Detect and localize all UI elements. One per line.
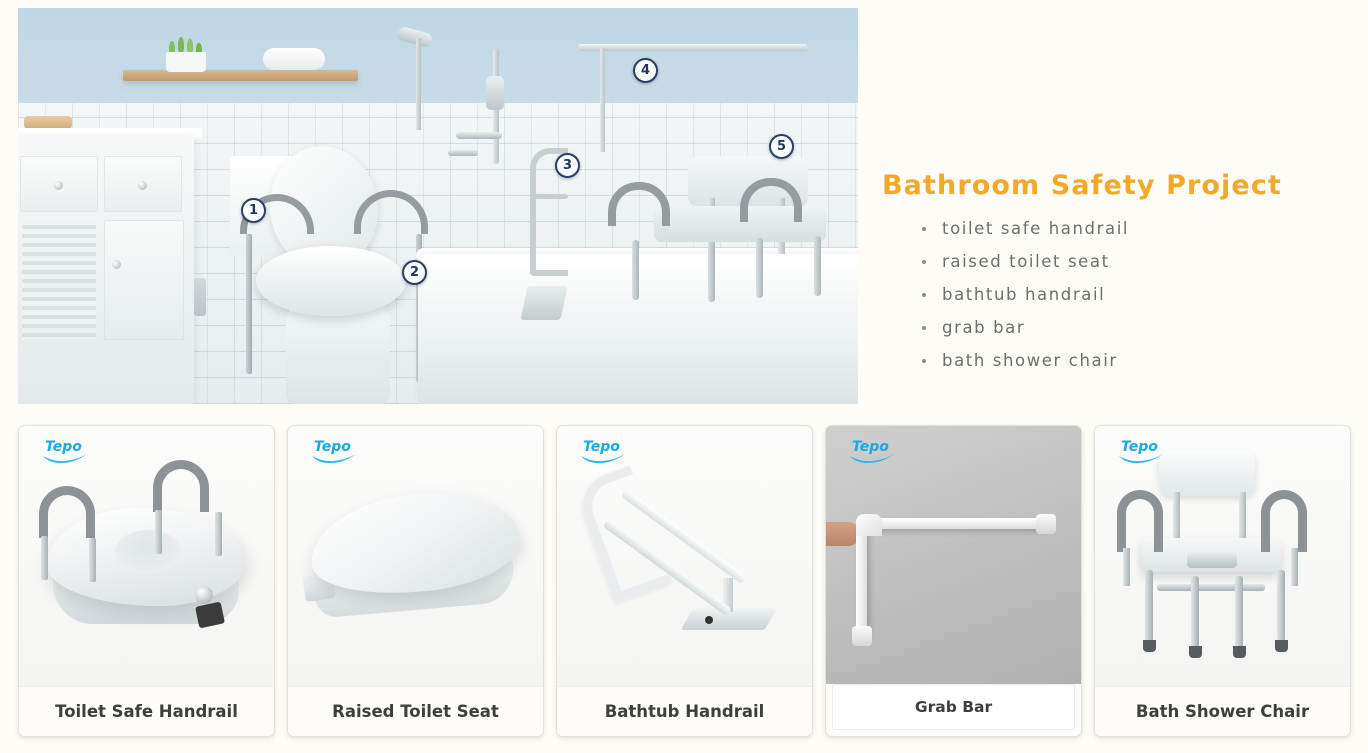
chair-leg-3 <box>1235 576 1243 648</box>
seat-clamp <box>195 602 225 629</box>
bullet-dot-icon <box>922 227 926 231</box>
armrest-leg-left <box>246 234 252 374</box>
product-card-bath-shower-chair[interactable]: Tepo Bath Shower Chair <box>1094 425 1351 737</box>
bullet-dot-icon <box>922 293 926 297</box>
chair-foot-1 <box>1143 640 1156 652</box>
plate-bolt <box>705 616 713 624</box>
toilet-base <box>286 304 390 404</box>
handrail-right <box>153 460 209 512</box>
shower-pipe <box>416 38 421 130</box>
grab-bar-flange-bottom <box>852 626 872 646</box>
callout-badge-2[interactable]: 2 <box>402 260 427 285</box>
feature-item-grab-bar: grab bar <box>882 318 1352 337</box>
svg-text:Tepo: Tepo <box>852 439 889 455</box>
hand-holding-bar <box>826 522 860 546</box>
raised-toilet-seat-in-scene <box>256 246 406 316</box>
product-label: Grab Bar <box>832 684 1075 730</box>
wooden-shelf <box>123 70 358 81</box>
product-card-raised-toilet-seat[interactable]: Tepo Raised Toilet Seat <box>287 425 544 737</box>
swivel-mechanism <box>1187 552 1237 568</box>
bullet-dot-icon <box>922 260 926 264</box>
feature-label: bathtub handrail <box>942 285 1105 304</box>
shower-chair-leg-2 <box>708 242 715 302</box>
bathtub-handrail-step <box>534 194 568 199</box>
shower-mixer <box>456 132 502 139</box>
scene-artwork <box>18 8 858 404</box>
handrail-loop <box>574 465 673 602</box>
feature-label: grab bar <box>942 318 1025 337</box>
grab-bar-horizontal <box>868 518 1048 529</box>
plant-pot <box>166 52 206 72</box>
grab-bar-elbow <box>856 514 882 536</box>
product-card-toilet-safe-handrail[interactable]: Tepo Toilet Safe Handrail <box>18 425 275 737</box>
callout-badge-5[interactable]: 5 <box>769 134 794 159</box>
chair-foot-4 <box>1275 640 1288 652</box>
svg-text:Tepo: Tepo <box>45 439 82 455</box>
raised-toilet-seat-photo: Tepo <box>288 426 543 686</box>
drawer-knob-left <box>54 181 63 190</box>
bullet-dot-icon <box>922 359 926 363</box>
chair-foot-2 <box>1189 646 1202 658</box>
feature-item-bathtub-handrail: bathtub handrail <box>882 285 1352 304</box>
drawer-knob-right <box>138 181 147 190</box>
seat-opening <box>115 530 181 574</box>
chair-backrest <box>1159 450 1255 496</box>
curtain-rod <box>578 44 808 51</box>
seat-lock-knob <box>195 586 213 604</box>
feature-item-raised-toilet-seat: raised toilet seat <box>882 252 1352 271</box>
vanity-door-right <box>104 220 184 340</box>
feature-label: bath shower chair <box>942 351 1118 370</box>
feature-label: raised toilet seat <box>942 252 1110 271</box>
info-panel: Bathroom Safety Project toilet safe hand… <box>882 0 1352 384</box>
door-knob <box>112 260 121 269</box>
feature-item-bath-shower-chair: bath shower chair <box>882 351 1352 370</box>
armrest-post-right <box>1291 548 1298 586</box>
vanity-louvre-door <box>22 220 96 340</box>
tepo-logo: Tepo <box>39 436 91 464</box>
product-label: Bathtub Handrail <box>557 686 812 736</box>
handrail-left <box>39 486 95 538</box>
feature-list: toilet safe handrail raised toilet seat … <box>882 219 1352 370</box>
callout-badge-1[interactable]: 1 <box>241 198 266 223</box>
svg-text:Tepo: Tepo <box>1121 439 1158 455</box>
towel-roll <box>263 48 325 70</box>
product-card-row: Tepo Toilet Safe Handrail Tepo <box>18 425 1351 737</box>
product-card-bathtub-handrail[interactable]: Tepo Bathtub Handrail <box>556 425 813 737</box>
product-label: Toilet Safe Handrail <box>19 686 274 736</box>
svg-text:Tepo: Tepo <box>583 439 620 455</box>
tepo-logo: Tepo <box>308 436 360 464</box>
toilet-brush <box>194 278 206 316</box>
feature-item-toilet-safe-handrail: toilet safe handrail <box>882 219 1352 238</box>
grab-bar-flange-right <box>1036 514 1056 534</box>
handrail-post-right-inner <box>155 510 162 554</box>
handrail-post-left-outer <box>41 536 48 580</box>
callout-badge-3[interactable]: 3 <box>555 153 580 178</box>
bathtub-handrail-clamp <box>520 286 567 320</box>
page-title: Bathroom Safety Project <box>882 170 1352 201</box>
product-label: Raised Toilet Seat <box>288 686 543 736</box>
shower-chair-leg-3 <box>756 238 763 298</box>
grab-bar-photo: Tepo <box>826 426 1081 684</box>
tepo-logo: Tepo <box>577 436 629 464</box>
shower-handset <box>486 76 504 110</box>
bath-spout <box>448 150 478 156</box>
chair-foot-3 <box>1233 646 1246 658</box>
tepo-logo: Tepo <box>846 436 898 464</box>
svg-text:Tepo: Tepo <box>314 439 351 455</box>
product-label: Bath Shower Chair <box>1095 686 1350 736</box>
chair-cross-brace <box>1157 584 1265 591</box>
chair-leg-2 <box>1191 576 1199 648</box>
grab-bar-vertical <box>856 522 867 640</box>
product-card-grab-bar[interactable]: Tepo Grab Bar <box>825 425 1082 737</box>
shower-chair-leg-1 <box>632 240 639 300</box>
bathroom-scene-image: 1 2 3 4 5 <box>18 8 858 404</box>
blue-wall <box>18 8 858 103</box>
feature-label: toilet safe handrail <box>942 219 1129 238</box>
curtain-rod-bracket <box>600 48 605 152</box>
shower-chair-leg-4 <box>814 236 821 296</box>
tepo-logo: Tepo <box>1115 436 1167 464</box>
toilet-safe-handrail-photo: Tepo <box>19 426 274 686</box>
bullet-dot-icon <box>922 326 926 330</box>
handrail-post-left-inner <box>89 538 96 582</box>
callout-badge-4[interactable]: 4 <box>633 58 658 83</box>
chair-armrest-left <box>1117 490 1163 552</box>
chair-leg-4 <box>1277 570 1285 642</box>
chair-leg-1 <box>1145 570 1153 642</box>
handrail-post-right-outer <box>215 512 222 556</box>
bath-shower-chair-photo: Tepo <box>1095 426 1350 686</box>
armrest-post-left <box>1123 548 1130 586</box>
hero-section: 1 2 3 4 5 Bathroom Safety Project toilet… <box>0 0 1368 404</box>
chair-armrest-right <box>1261 490 1307 552</box>
bathtub-handrail-photo: Tepo <box>557 426 812 686</box>
